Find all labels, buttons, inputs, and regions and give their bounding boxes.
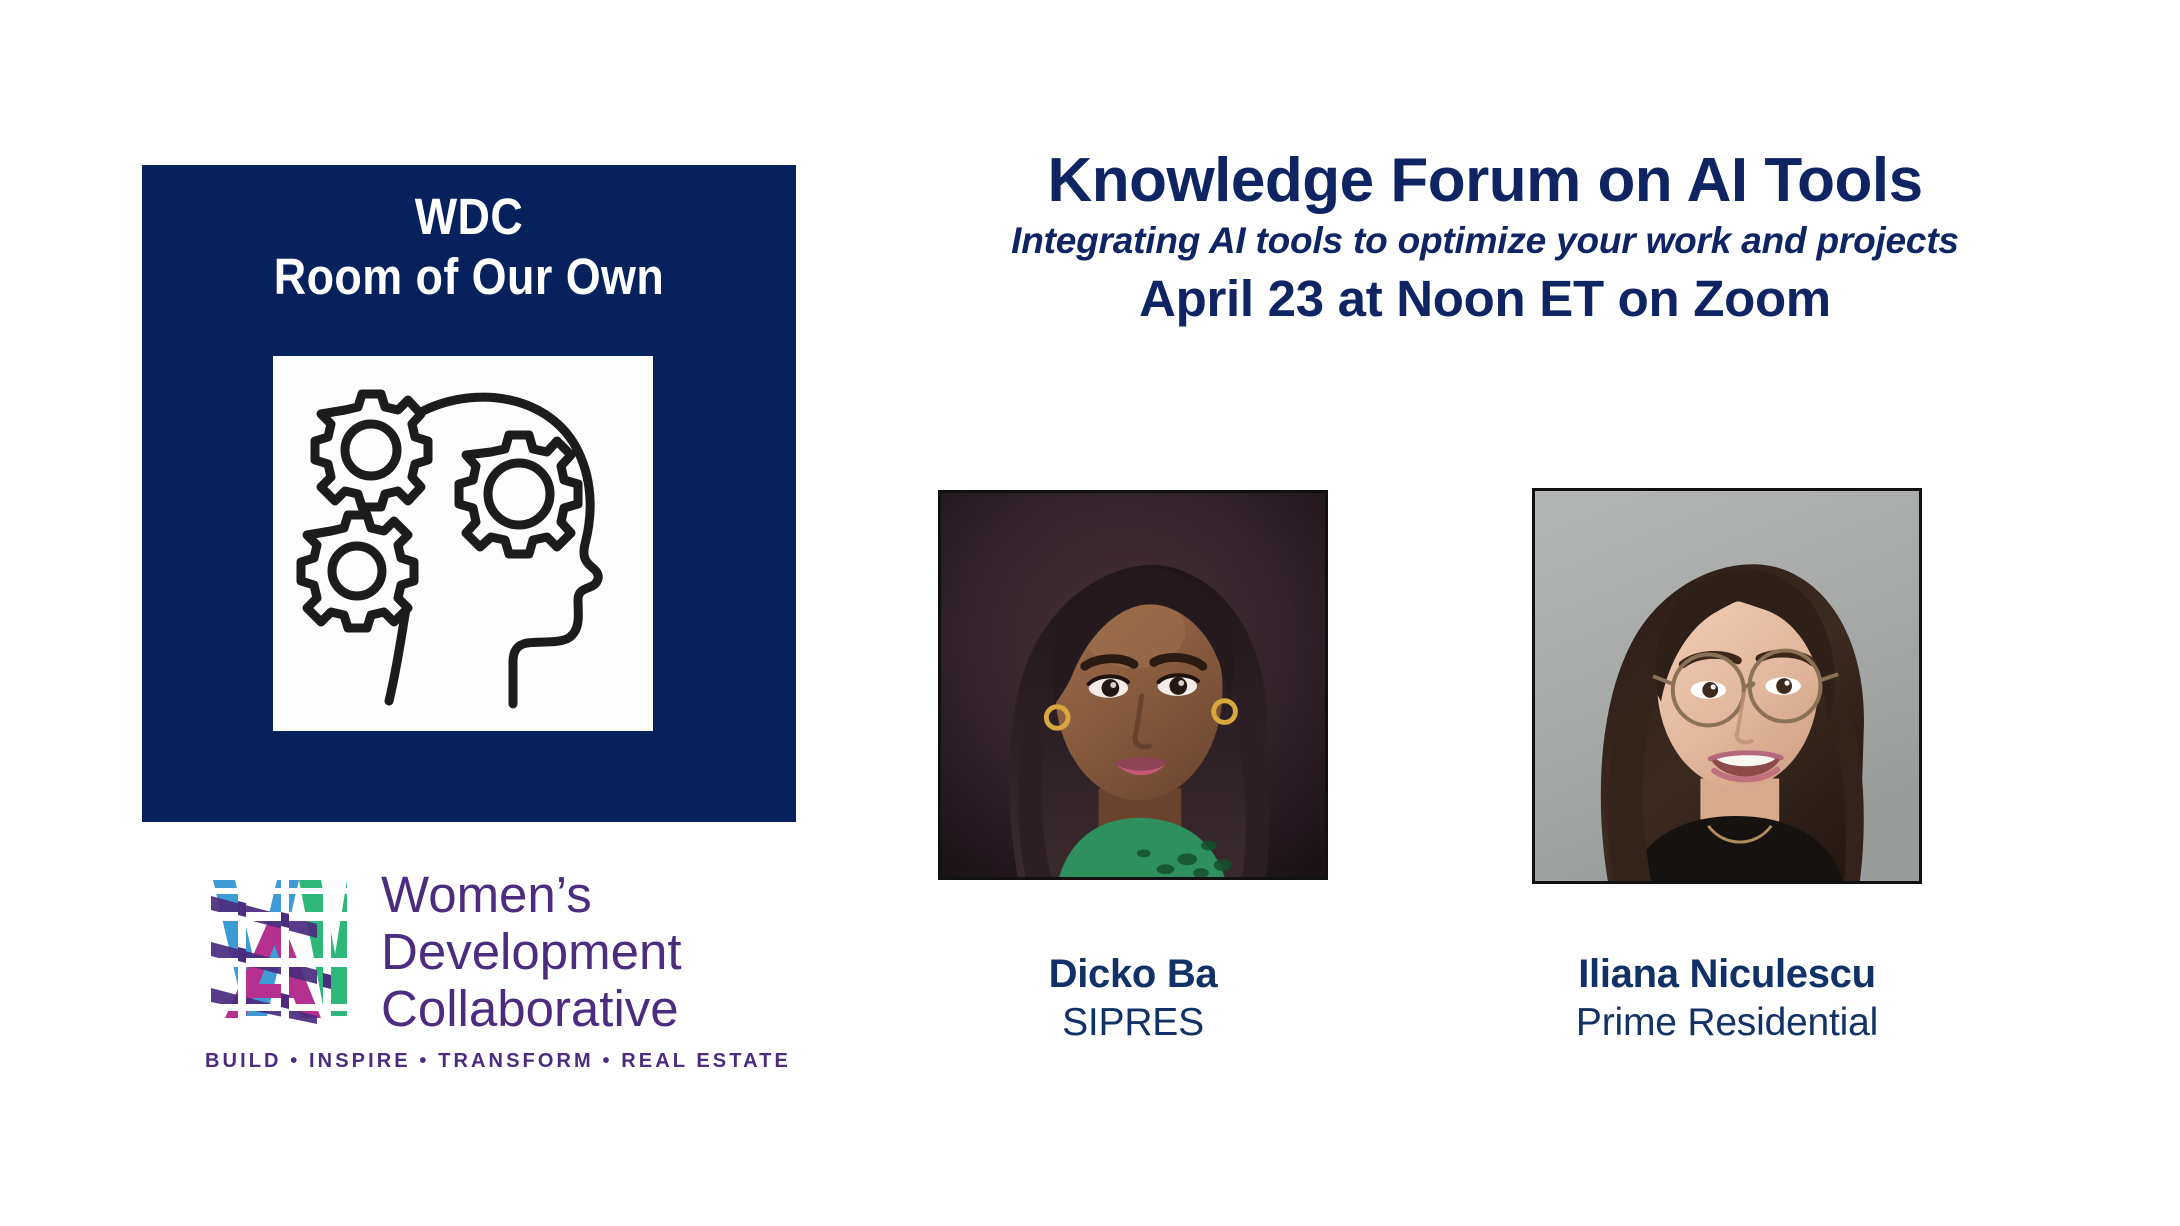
panel-heading-line-2: Room of Our Own: [181, 247, 757, 307]
event-datetime: April 23 at Noon ET on Zoom: [880, 271, 2090, 327]
wordmark-line-2: Development: [381, 923, 682, 980]
wordmark-line-1: Women’s: [381, 866, 682, 923]
event-subtitle: Integrating AI tools to optimize your wo…: [880, 219, 2090, 263]
speaker-name: Iliana Niculescu: [1532, 950, 1922, 999]
speaker-photo: [1532, 488, 1922, 884]
event-title: Knowledge Forum on AI Tools: [880, 148, 2090, 213]
panel-heading-line-1: WDC: [181, 187, 757, 247]
wdc-logo-mark-icon: [205, 872, 353, 1024]
speaker-caption: Dicko Ba SIPRES: [938, 950, 1328, 1046]
panel-heading: WDC Room of Our Own: [181, 187, 757, 307]
event-headline: Knowledge Forum on AI Tools Integrating …: [880, 148, 2090, 327]
speaker-name: Dicko Ba: [938, 950, 1328, 999]
wdc-program-panel: WDC Room of Our Own: [142, 165, 796, 822]
wordmark-line-3: Collaborative: [381, 980, 682, 1037]
speaker-organization: SIPRES: [938, 999, 1328, 1047]
wdc-logo: Women’s Development Collaborative BUILD …: [205, 872, 795, 1097]
speaker-photo: [938, 490, 1328, 880]
speaker-caption: Iliana Niculescu Prime Residential: [1532, 950, 1922, 1046]
wdc-tagline: BUILD • INSPIRE • TRANSFORM • REAL ESTAT…: [205, 1050, 795, 1073]
wdc-wordmark: Women’s Development Collaborative: [381, 866, 682, 1037]
head-with-gears-icon: [273, 356, 653, 731]
speaker-organization: Prime Residential: [1532, 999, 1922, 1047]
